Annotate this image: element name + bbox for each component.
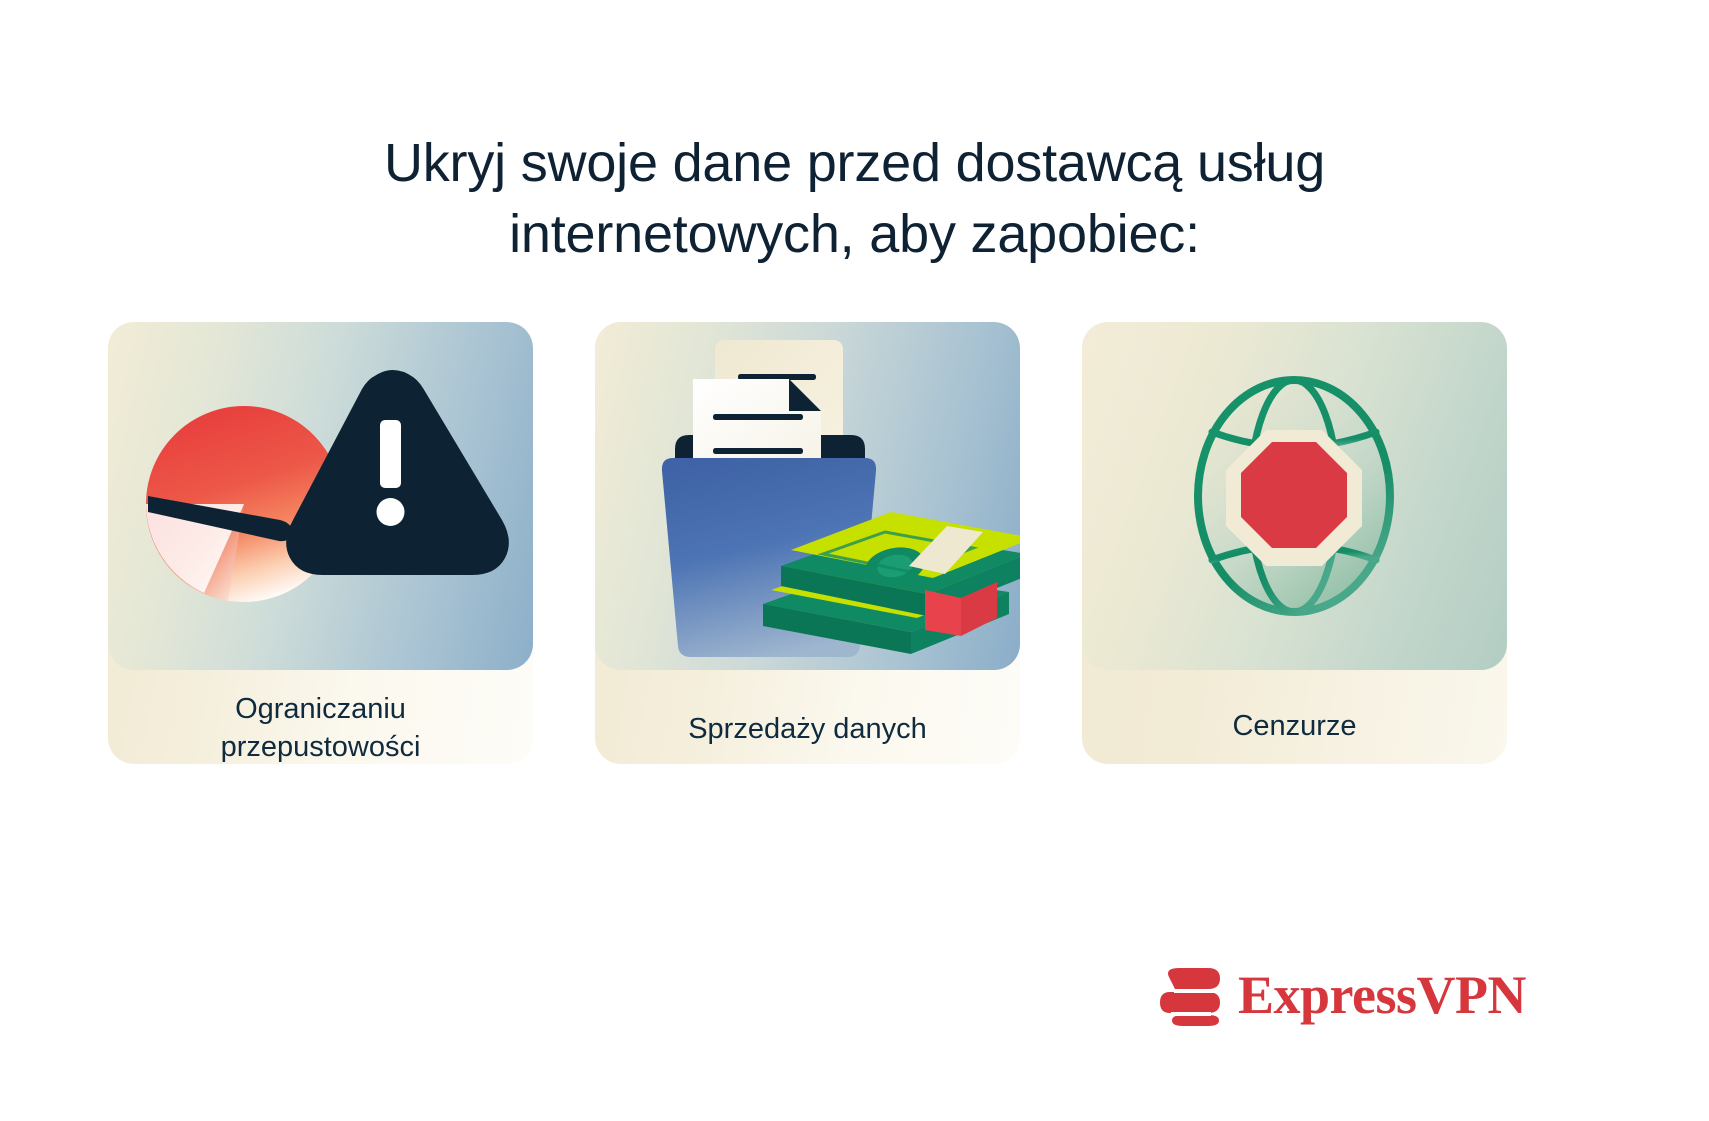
card-data-selling: Sprzedaży danych [595, 322, 1020, 764]
card-label-line1: Ograniczaniu [108, 690, 533, 728]
brand-name: ExpressVPN [1238, 968, 1526, 1022]
card-label-censorship: Cenzurze [1082, 707, 1507, 745]
expressvpn-logo: ExpressVPN [1158, 962, 1526, 1028]
stop-octagon [1226, 430, 1362, 566]
card-label-line1: Sprzedaży danych [595, 710, 1020, 748]
card-label-line1: Cenzurze [1082, 707, 1507, 745]
card-label-bandwidth: Ograniczaniu przepustowości [108, 690, 533, 764]
benefit-cards-row: Ograniczaniu przepustowości [108, 322, 1608, 764]
card-censorship: Cenzurze [1082, 322, 1507, 764]
cash-band-red [925, 590, 961, 636]
card-label-data-selling: Sprzedaży danych [595, 710, 1020, 748]
globe-stop-sign-icon [1082, 322, 1507, 670]
infographic-page: Ukryj swoje dane przed dostawcą usług in… [0, 0, 1709, 1121]
warning-triangle [286, 370, 509, 575]
expressvpn-logo-mark [1158, 962, 1224, 1028]
card-label-line2: przepustowości [108, 728, 533, 764]
page-title: Ukryj swoje dane przed dostawcą usług in… [0, 128, 1709, 271]
card-bandwidth-throttling: Ograniczaniu przepustowości [108, 322, 533, 764]
speedometer-warning-icon [108, 322, 533, 670]
exclamation-mark [380, 420, 401, 488]
folder-documents-money-icon [595, 322, 1020, 670]
